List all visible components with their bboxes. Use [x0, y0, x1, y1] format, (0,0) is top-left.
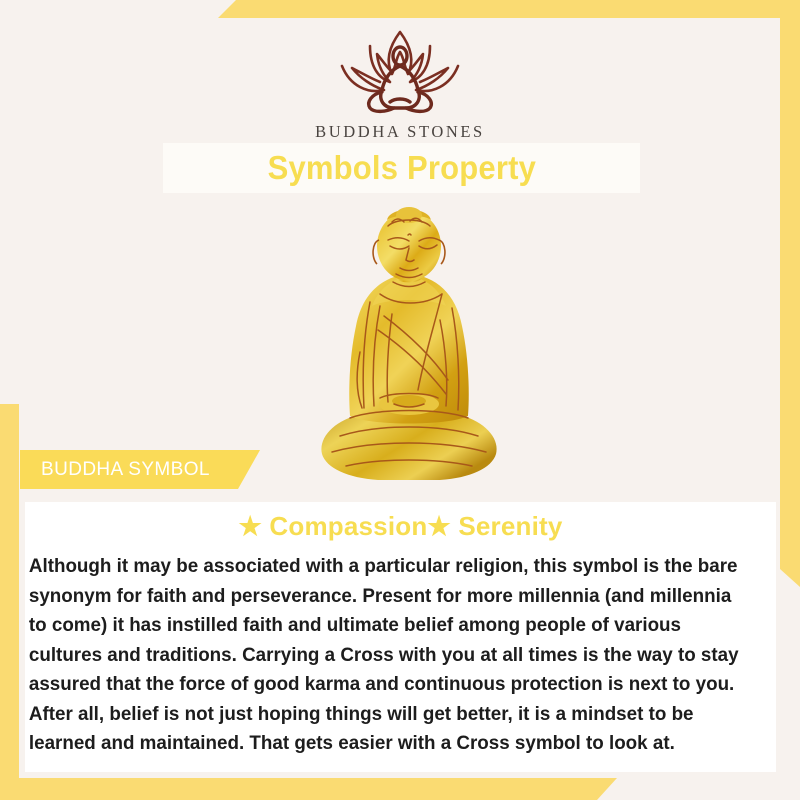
symbol-category-label: BUDDHA SYMBOL [20, 459, 210, 481]
decorative-bar-bottom [0, 778, 617, 800]
poster-canvas: BUDDHA STONES Symbols Property [0, 0, 800, 800]
lotus-meditation-icon [0, 24, 800, 120]
article-card: ★ Compassion★ Serenity Although it may b… [25, 502, 776, 772]
brand-name: BUDDHA STONES [0, 122, 800, 142]
title-banner: Symbols Property [163, 143, 640, 193]
brand-logo: BUDDHA STONES [0, 24, 800, 142]
article-headline: ★ Compassion★ Serenity [25, 502, 776, 542]
article-body-text: Although it may be associated with a par… [25, 542, 753, 759]
decorative-bar-left [0, 404, 19, 800]
decorative-bar-top [218, 0, 800, 18]
page-title: Symbols Property [267, 149, 535, 187]
hero-buddha-image [300, 202, 518, 498]
symbol-category-tag: BUDDHA SYMBOL [20, 450, 260, 489]
